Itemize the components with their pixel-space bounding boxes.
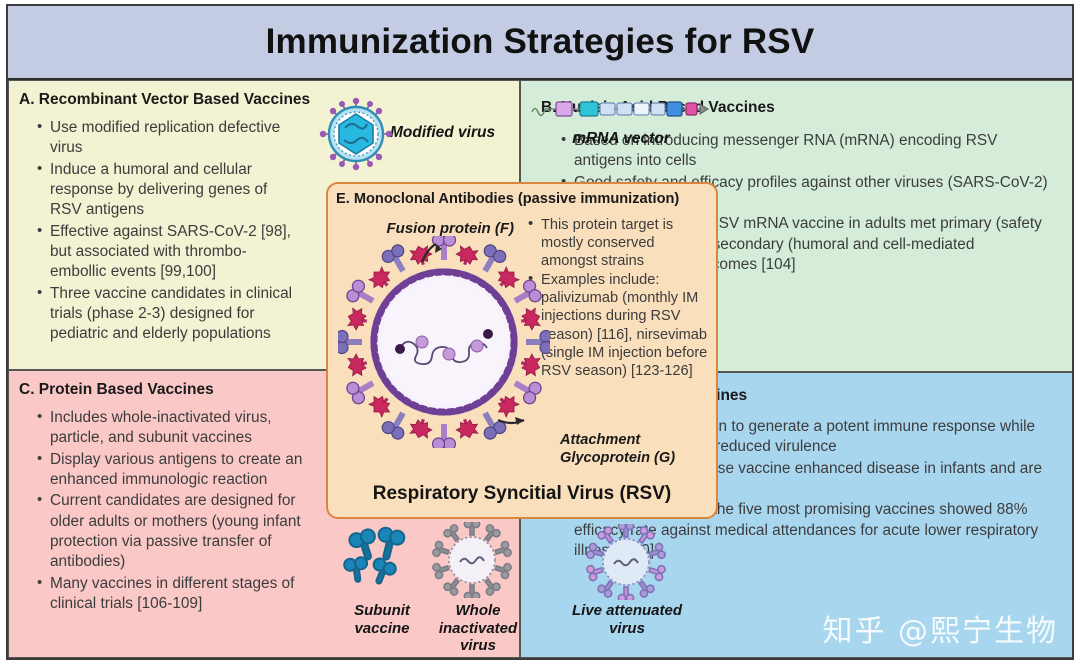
- whole-inactivated-virus-label: Whole inactivated virus: [428, 602, 528, 655]
- list-item: Display various antigens to create an en…: [37, 450, 309, 491]
- list-item: This protein target is mostly conserved …: [528, 216, 712, 270]
- panel-e-monoclonal-antibodies: E. Monoclonal Antibodies (passive immuni…: [326, 182, 718, 519]
- list-item: Three vaccine candidates in clinical tri…: [37, 284, 299, 345]
- modified-virus-icon: [318, 96, 394, 172]
- live-attenuated-virus-icon: [586, 524, 666, 600]
- panel-e-heading: E. Monoclonal Antibodies (passive immuni…: [328, 184, 716, 207]
- list-item: Induce a humoral and cellular response b…: [37, 160, 299, 221]
- list-item: Use modified replication defective virus: [37, 118, 299, 159]
- figure-title-bar: Immunization Strategies for RSV: [8, 6, 1072, 80]
- page-title: Immunization Strategies for RSV: [266, 22, 815, 62]
- list-item: Includes whole-inactivated virus, partic…: [37, 408, 309, 449]
- modified-virus-label: Modified virus: [390, 124, 520, 142]
- live-attenuated-virus-label: Live attenuated virus: [568, 602, 686, 637]
- attachment-glycoprotein-label: Attachment Glycoprotein (G): [560, 432, 710, 467]
- rsv-virus-particle-icon: [338, 236, 550, 448]
- mrna-vector-icon: [528, 94, 714, 124]
- subunit-vaccine-label: Subunit vaccine: [330, 602, 434, 637]
- rsv-caption: Respiratory Syncitial Virus (RSV): [328, 483, 716, 505]
- list-item: Many vaccines in different stages of cli…: [37, 574, 309, 615]
- figure-container: Immunization Strategies for RSV A. Recom…: [6, 4, 1074, 660]
- panel-a-heading: A. Recombinant Vector Based Vaccines: [9, 81, 519, 109]
- subunit-vaccine-icon: [342, 524, 418, 594]
- panel-c-bullet-list: Includes whole-inactivated virus, partic…: [9, 408, 319, 614]
- panel-a-bullet-list: Use modified replication defective virus…: [9, 118, 309, 345]
- fusion-protein-label: Fusion protein (F): [346, 220, 514, 237]
- whole-inactivated-virus-icon: [432, 522, 512, 598]
- list-item: Current candidates are designed for olde…: [37, 491, 309, 572]
- list-item: Effective against SARS-CoV-2 [98], but a…: [37, 222, 299, 283]
- mrna-vector-label: mRNA vector: [526, 130, 716, 148]
- list-item: Examples include: palivizumab (monthly I…: [528, 271, 712, 380]
